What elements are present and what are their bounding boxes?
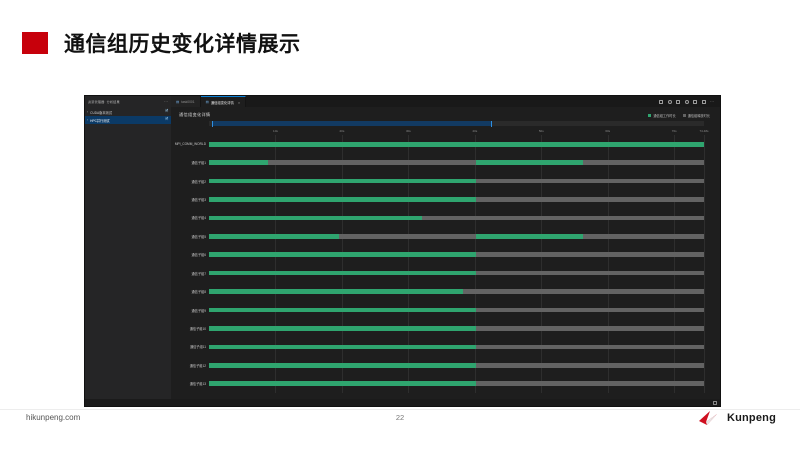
gantt-bar[interactable] bbox=[209, 289, 704, 294]
gantt-row[interactable]: 通信子组9 bbox=[209, 301, 704, 319]
gantt-row-label: 通信子组11 bbox=[190, 344, 206, 349]
gantt-row-label: 通信子组10 bbox=[190, 326, 206, 331]
sidebar-item-hpc-test[interactable]: › HPC并行测试 🗎 bbox=[85, 116, 171, 124]
gantt-bar[interactable] bbox=[209, 326, 704, 331]
legend-label: 通信组工作时长 bbox=[653, 113, 675, 118]
gantt-segment-idle[interactable] bbox=[476, 326, 704, 331]
close-icon[interactable]: × bbox=[238, 100, 240, 105]
footer-divider bbox=[0, 409, 800, 410]
app-statusbar bbox=[85, 399, 720, 406]
gantt-bar[interactable] bbox=[209, 160, 704, 165]
app-titlebar: 资源管理器: 分析结果 ··· ▤ task0001 ▤ 通信组变化详情 × bbox=[85, 96, 720, 107]
sidebar-item-cuda-test[interactable]: › CUDA版本测试 🗎 bbox=[85, 108, 171, 116]
gantt-row[interactable]: 通信子组3 bbox=[209, 190, 704, 208]
chart-header: 通信组变化详情 通信组工作时长 通信组释放时长 bbox=[171, 107, 720, 118]
timeline-range-slider[interactable] bbox=[209, 121, 704, 126]
range-selection[interactable] bbox=[212, 121, 491, 126]
gantt-segment-idle[interactable] bbox=[476, 363, 704, 368]
page-title-text: 通信组历史变化详情展示 bbox=[64, 28, 301, 58]
tab-strip: ▤ task0001 ▤ 通信组变化详情 × ··· bbox=[171, 96, 720, 107]
gantt-row[interactable]: 通信子组11 bbox=[209, 338, 704, 356]
gantt-row[interactable]: 通信子组4 bbox=[209, 209, 704, 227]
grid-line bbox=[704, 135, 705, 393]
editor-toolbar: ··· bbox=[653, 96, 720, 107]
gantt-segment-active[interactable] bbox=[209, 271, 476, 276]
sidebar-item-label: CUDA版本测试 bbox=[90, 110, 112, 115]
brand-logo: Kunpeng bbox=[697, 410, 776, 426]
gantt-row[interactable]: 通信子组10 bbox=[209, 319, 704, 337]
gantt-segment-active[interactable] bbox=[209, 289, 463, 294]
file-icon: ▤ bbox=[206, 100, 209, 104]
gantt-row-label: 通信子组5 bbox=[191, 234, 206, 239]
gantt-row-label: 通信子组7 bbox=[191, 271, 206, 276]
tab-task0001[interactable]: ▤ task0001 bbox=[171, 96, 201, 107]
gantt-segment-active[interactable] bbox=[209, 142, 704, 147]
gantt-segment-idle[interactable] bbox=[476, 179, 704, 184]
title-accent-marker bbox=[22, 32, 48, 54]
range-handle-start[interactable] bbox=[212, 121, 214, 127]
explorer-title: 资源管理器: 分析结果 bbox=[88, 99, 120, 104]
gantt-row-label: 通信子组9 bbox=[191, 308, 206, 313]
kunpeng-mark-icon bbox=[697, 410, 723, 426]
gantt-segment-active[interactable] bbox=[209, 252, 476, 257]
slide: 通信组历史变化详情展示 资源管理器: 分析结果 ··· ▤ task0001 ▤… bbox=[0, 0, 800, 450]
chart-legend: 通信组工作时长 通信组释放时长 bbox=[648, 112, 710, 118]
chevron-right-icon: › bbox=[87, 110, 88, 114]
gantt-row[interactable]: 通信子组6 bbox=[209, 246, 704, 264]
gantt-row-label: 通信子组12 bbox=[190, 363, 206, 368]
gantt-segment-active[interactable] bbox=[209, 326, 476, 331]
gantt-bar[interactable] bbox=[209, 271, 704, 276]
gantt-segment-active[interactable] bbox=[209, 363, 476, 368]
x-axis-tick: 74.48s bbox=[699, 129, 708, 133]
app-window: 资源管理器: 分析结果 ··· ▤ task0001 ▤ 通信组变化详情 × bbox=[84, 95, 721, 407]
gantt-segment-active[interactable] bbox=[476, 234, 583, 239]
page-icon: 🗎 bbox=[165, 117, 168, 123]
gantt-bar[interactable] bbox=[209, 197, 704, 202]
range-handle-end[interactable] bbox=[491, 121, 493, 127]
gantt-row-label: 通信子组8 bbox=[191, 289, 206, 294]
gantt-segment-active[interactable] bbox=[209, 216, 422, 221]
more-ellipsis-icon[interactable]: ··· bbox=[710, 100, 714, 104]
x-axis-tick: 60s bbox=[605, 129, 610, 133]
ellipsis-icon[interactable]: ··· bbox=[164, 100, 168, 104]
gantt-bar[interactable] bbox=[209, 381, 704, 386]
gantt-bar[interactable] bbox=[209, 234, 704, 239]
gantt-segment-idle[interactable] bbox=[463, 289, 704, 294]
gantt-segment-active[interactable] bbox=[209, 381, 476, 386]
gantt-segment-active[interactable] bbox=[209, 160, 268, 165]
gantt-segment-idle[interactable] bbox=[268, 160, 476, 165]
save-icon[interactable] bbox=[676, 100, 680, 104]
gantt-segment-active[interactable] bbox=[209, 234, 339, 239]
settings-gear-icon[interactable] bbox=[668, 100, 672, 104]
x-axis-tick: 20s bbox=[339, 129, 344, 133]
gantt-segment-idle[interactable] bbox=[476, 252, 704, 257]
gantt-row-label: MPI_COMM_WORLD bbox=[175, 142, 206, 146]
gantt-bar[interactable] bbox=[209, 179, 704, 184]
legend-swatch bbox=[683, 114, 686, 117]
gantt-bar[interactable] bbox=[209, 345, 704, 350]
gantt-segment-idle[interactable] bbox=[583, 234, 704, 239]
gantt-row-label: 通信子组3 bbox=[191, 197, 206, 202]
resize-grip-icon[interactable] bbox=[713, 401, 717, 405]
gantt-row[interactable]: 通信子组1 bbox=[209, 153, 704, 171]
gantt-row[interactable]: 通信子组12 bbox=[209, 356, 704, 374]
gantt-segment-active[interactable] bbox=[209, 345, 476, 350]
chart-title: 通信组变化详情 bbox=[179, 112, 210, 118]
gantt-segment-idle[interactable] bbox=[476, 308, 704, 313]
gantt-segment-idle[interactable] bbox=[422, 216, 704, 221]
page-title: 通信组历史变化详情展示 bbox=[22, 28, 301, 58]
gantt-segment-idle[interactable] bbox=[476, 197, 704, 202]
x-axis: 10s20s30s40s50s60s70s74.48s bbox=[209, 127, 704, 135]
gantt-segment-active[interactable] bbox=[209, 179, 476, 184]
gantt-segment-idle[interactable] bbox=[476, 271, 704, 276]
sidebar-item-label: HPC并行测试 bbox=[90, 118, 109, 123]
gantt-bar[interactable] bbox=[209, 363, 704, 368]
search-icon[interactable] bbox=[685, 100, 689, 104]
page-number: 22 bbox=[0, 413, 800, 422]
gantt-segment-idle[interactable] bbox=[583, 160, 704, 165]
x-axis-tick: 10s bbox=[273, 129, 278, 133]
gantt-row-label: 通信子组6 bbox=[191, 252, 206, 257]
split-editor-icon[interactable] bbox=[659, 100, 663, 104]
gantt-row[interactable]: 通信子组8 bbox=[209, 282, 704, 300]
tab-label: 通信组变化详情 bbox=[211, 100, 234, 105]
gantt-bar[interactable] bbox=[209, 142, 704, 147]
legend-swatch bbox=[648, 114, 651, 117]
layout-panel-icon[interactable] bbox=[702, 100, 706, 104]
legend-item-idle[interactable]: 通信组释放时长 bbox=[683, 113, 710, 118]
gantt-row-label: 通信子组2 bbox=[191, 179, 206, 184]
gantt-row-label: 通信子组4 bbox=[191, 215, 206, 220]
gantt-bar[interactable] bbox=[209, 308, 704, 313]
gantt-segment-active[interactable] bbox=[476, 160, 583, 165]
x-axis-tick: 70s bbox=[672, 129, 677, 133]
gantt-segment-idle[interactable] bbox=[476, 345, 704, 350]
app-body: › CUDA版本测试 🗎 › HPC并行测试 🗎 通信组变化详情 bbox=[85, 107, 720, 399]
explorer-header: 资源管理器: 分析结果 ··· bbox=[85, 96, 171, 107]
gantt-row-label: 通信子组1 bbox=[191, 160, 206, 165]
file-icon: ▤ bbox=[176, 100, 179, 104]
tab-label: task0001 bbox=[181, 100, 194, 104]
gantt-segment-idle[interactable] bbox=[476, 381, 704, 386]
gantt-row[interactable]: 通信子组13 bbox=[209, 374, 704, 392]
gantt-rows: MPI_COMM_WORLD通信子组1通信子组2通信子组3通信子组4通信子组5通… bbox=[209, 135, 704, 393]
x-axis-tick: 30s bbox=[406, 129, 411, 133]
gantt-row[interactable]: 通信子组7 bbox=[209, 264, 704, 282]
chart-plot-area: MPI_COMM_WORLD通信子组1通信子组2通信子组3通信子组4通信子组5通… bbox=[209, 135, 704, 393]
brand-name: Kunpeng bbox=[727, 412, 776, 424]
chart-panel: 通信组变化详情 通信组工作时长 通信组释放时长 bbox=[171, 107, 720, 399]
x-axis-tick: 40s bbox=[472, 129, 477, 133]
gantt-row-label: 通信子组13 bbox=[190, 381, 206, 386]
gantt-segment-active[interactable] bbox=[209, 197, 476, 202]
sidebar-explorer: › CUDA版本测试 🗎 › HPC并行测试 🗎 bbox=[85, 107, 171, 399]
gantt-bar[interactable] bbox=[209, 216, 704, 221]
gantt-segment-idle[interactable] bbox=[339, 234, 477, 239]
gantt-row[interactable]: MPI_COMM_WORLD bbox=[209, 135, 704, 153]
page-icon: 🗎 bbox=[165, 109, 168, 115]
x-axis-tick: 50s bbox=[539, 129, 544, 133]
gantt-bar[interactable] bbox=[209, 252, 704, 257]
legend-item-active[interactable]: 通信组工作时长 bbox=[648, 113, 675, 118]
legend-label: 通信组释放时长 bbox=[688, 113, 710, 118]
gantt-row[interactable]: 通信子组2 bbox=[209, 172, 704, 190]
gantt-row[interactable]: 通信子组5 bbox=[209, 227, 704, 245]
tab-comm-group-detail[interactable]: ▤ 通信组变化详情 × bbox=[201, 96, 247, 107]
gantt-segment-active[interactable] bbox=[209, 308, 476, 313]
refresh-icon[interactable] bbox=[693, 100, 697, 104]
chevron-right-icon: › bbox=[87, 118, 88, 122]
